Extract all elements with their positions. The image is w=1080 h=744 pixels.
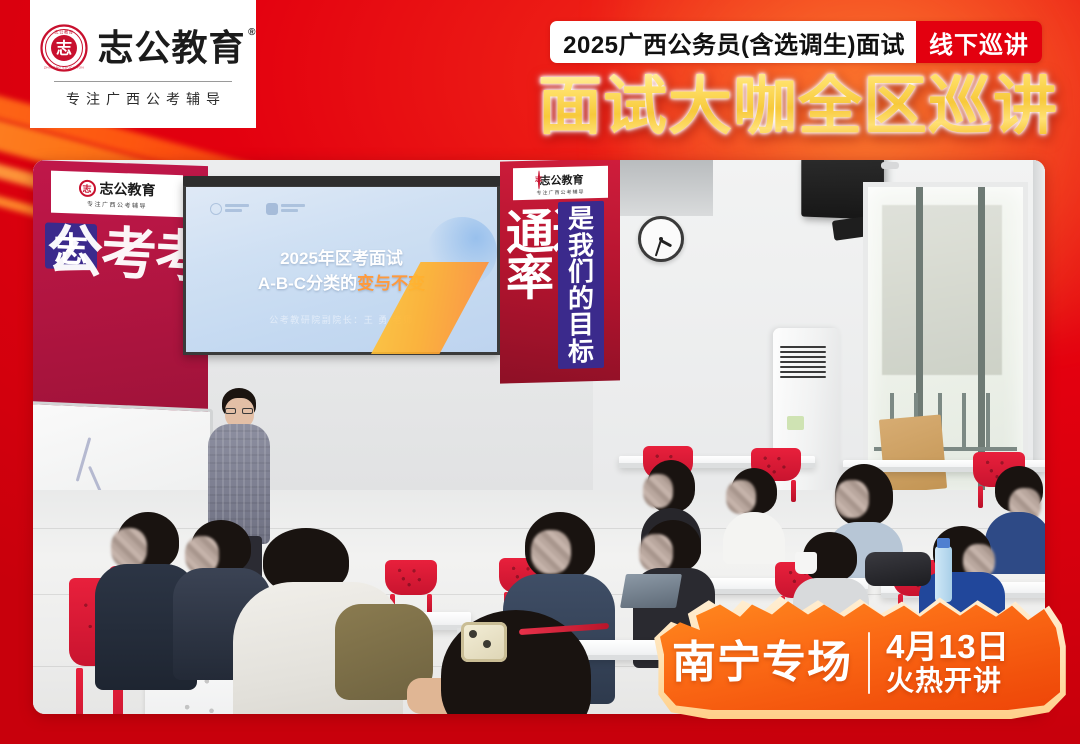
wall-banner-left-slogan: 专注广西公考辅导 (87, 199, 147, 210)
poster-root: 志 志公教育 ZHIGONG EDUCATION 志公教育® 专注广西公考辅导 … (0, 0, 1080, 744)
clock-minute-hand (655, 240, 662, 257)
brand-logo-box: 志 志公教育 ZHIGONG EDUCATION 志公教育® 专注广西公考辅导 (30, 0, 256, 128)
student-face-blur (835, 480, 869, 518)
svg-text:志公教育: 志公教育 (55, 28, 74, 35)
window-bar (962, 393, 966, 451)
subtitle-tag-badge: 线下巡讲 (916, 21, 1042, 63)
person-foreground-man (211, 528, 421, 714)
student-face-blur (111, 528, 147, 568)
slide-logo-mark-icon (210, 203, 222, 215)
badge-right-group: 4月13日 火热开讲 (886, 630, 1010, 695)
wall-clock-icon (638, 216, 684, 262)
student-face-blur (531, 530, 571, 574)
student-face-blur (643, 474, 673, 508)
slide-logo-b (266, 203, 305, 215)
wall-banner-right-brand: 志公教育 (540, 174, 584, 187)
wall-banner-left-logo: 志公教育 专注广西公考辅导 (51, 171, 183, 218)
svg-text:ZHIGONG EDUCATION: ZHIGONG EDUCATION (44, 65, 84, 69)
badge-action-label: 火热开讲 (886, 667, 1010, 695)
hair-clip-dot (469, 630, 477, 638)
wall-banner-right: 志公教育 专注广西公考辅导 通过率 是我们的目标 (500, 160, 620, 384)
brand-slogan: 专注广西公考辅导 (60, 89, 226, 109)
paper-cup (795, 552, 817, 574)
seal-icon-small (79, 179, 96, 197)
window-bar (986, 393, 990, 451)
slide-logos (210, 203, 305, 215)
seal-icon: 志 志公教育 ZHIGONG EDUCATION (40, 24, 88, 72)
wall-banner-left-logo-row: 志公教育 (79, 178, 156, 201)
wall-banner-right-subtext: 是我们的目标 (558, 201, 604, 369)
smoke-detector (881, 162, 899, 169)
screen-top-bar (183, 176, 506, 186)
slide-logo-a (210, 203, 249, 215)
whiteboard-mark (76, 437, 92, 482)
wall-banner-left-brand: 志公教育 (100, 178, 156, 200)
ac-vent-grille (780, 346, 826, 378)
badge-city-label: 南宁专场 (672, 641, 852, 685)
backpack (865, 552, 931, 586)
registered-mark: ® (248, 28, 256, 38)
subtitle-main-text: 2025广西公务员(含选调生)面试 (550, 21, 916, 63)
page-title: 面试大咖全区巡讲 (538, 74, 1058, 138)
wall-banner-right-logo-row: 志公教育 (538, 170, 584, 189)
projector-screen: 2025年区考面试 A-B-C分类的变与不变 公考教研院副院长：王 勇 老师 (183, 180, 500, 355)
seal-icon-small (538, 170, 540, 189)
event-badge: 南宁专场 4月13日 火热开讲 (650, 584, 1070, 719)
clock-center-pin (659, 237, 663, 241)
subtitle-banner: 2025广西公务员(含选调生)面试 线下巡讲 (550, 21, 1042, 63)
slide-logo-text-bars (225, 204, 249, 214)
brand-logo-row: 志 志公教育 ZHIGONG EDUCATION 志公教育® (40, 24, 245, 72)
badge-date-label: 4月13日 (886, 630, 1010, 663)
bottle-cap (937, 538, 950, 548)
brand-name: 志公教育® (97, 30, 245, 66)
person-foreground-woman (425, 610, 655, 714)
logo-divider (54, 81, 232, 82)
wall-banner-right-slogan: 专注广西公考辅导 (536, 188, 584, 196)
wall-banner-right-logo: 志公教育 专注广西公考辅导 (513, 166, 608, 200)
hair-clip-dot (483, 640, 491, 648)
svg-text:志: 志 (56, 38, 72, 57)
slide-logo-text-bars (281, 204, 305, 214)
student-top (723, 512, 785, 564)
student-face-blur (639, 534, 673, 572)
ac-label-sticker (787, 416, 804, 430)
person-student (723, 468, 785, 560)
student-face-blur (726, 480, 756, 514)
badge-divider (868, 632, 870, 694)
slide-logo-mark-icon (266, 203, 278, 215)
badge-content: 南宁专场 4月13日 火热开讲 (672, 622, 1054, 703)
teacher-glasses-icon (225, 408, 253, 414)
